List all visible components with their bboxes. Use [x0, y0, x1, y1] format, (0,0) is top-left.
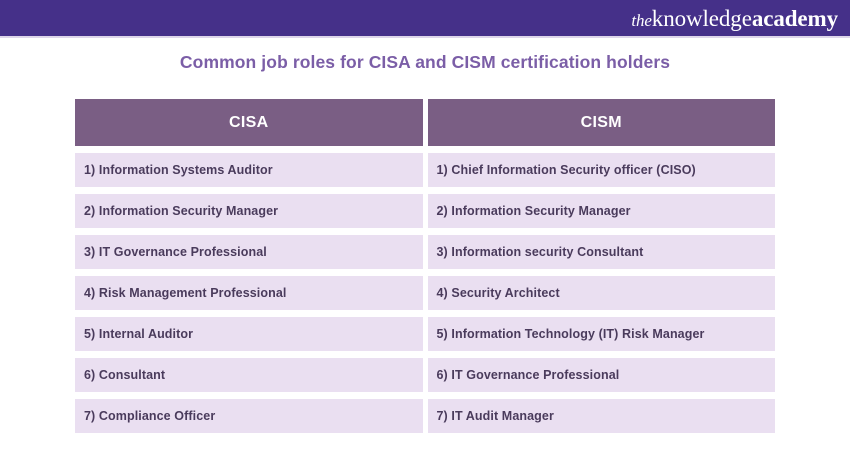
table-row: 2) Information Security Manager: [428, 194, 776, 228]
column-cisa: CISA 1) Information Systems Auditor 2) I…: [75, 99, 423, 433]
brand-logo: theknowledgeacademy: [631, 7, 838, 30]
column-header-cism: CISM: [428, 99, 776, 146]
table-row: 2) Information Security Manager: [75, 194, 423, 228]
table-row: 1) Chief Information Security officer (C…: [428, 153, 776, 187]
table-row: 5) Internal Auditor: [75, 317, 423, 351]
brand-divider: [0, 36, 850, 38]
table-row: 4) Security Architect: [428, 276, 776, 310]
column-header-cisa: CISA: [75, 99, 423, 146]
table-row: 3) IT Governance Professional: [75, 235, 423, 269]
brand-logo-academy: academy: [752, 6, 838, 31]
brand-logo-the: the: [631, 11, 651, 30]
table-row: 6) Consultant: [75, 358, 423, 392]
column-cism: CISM 1) Chief Information Security offic…: [428, 99, 776, 433]
table-row: 1) Information Systems Auditor: [75, 153, 423, 187]
table-row: 7) IT Audit Manager: [428, 399, 776, 433]
table-row: 6) IT Governance Professional: [428, 358, 776, 392]
brand-logo-knowledge: knowledge: [652, 6, 752, 31]
table-row: 4) Risk Management Professional: [75, 276, 423, 310]
page-title: Common job roles for CISA and CISM certi…: [0, 52, 850, 73]
table-row: 5) Information Technology (IT) Risk Mana…: [428, 317, 776, 351]
table-row: 3) Information security Consultant: [428, 235, 776, 269]
brand-banner: theknowledgeacademy: [0, 0, 850, 36]
infographic-page: theknowledgeacademy Common job roles for…: [0, 0, 850, 450]
table-row: 7) Compliance Officer: [75, 399, 423, 433]
job-roles-table: CISA 1) Information Systems Auditor 2) I…: [75, 99, 775, 433]
